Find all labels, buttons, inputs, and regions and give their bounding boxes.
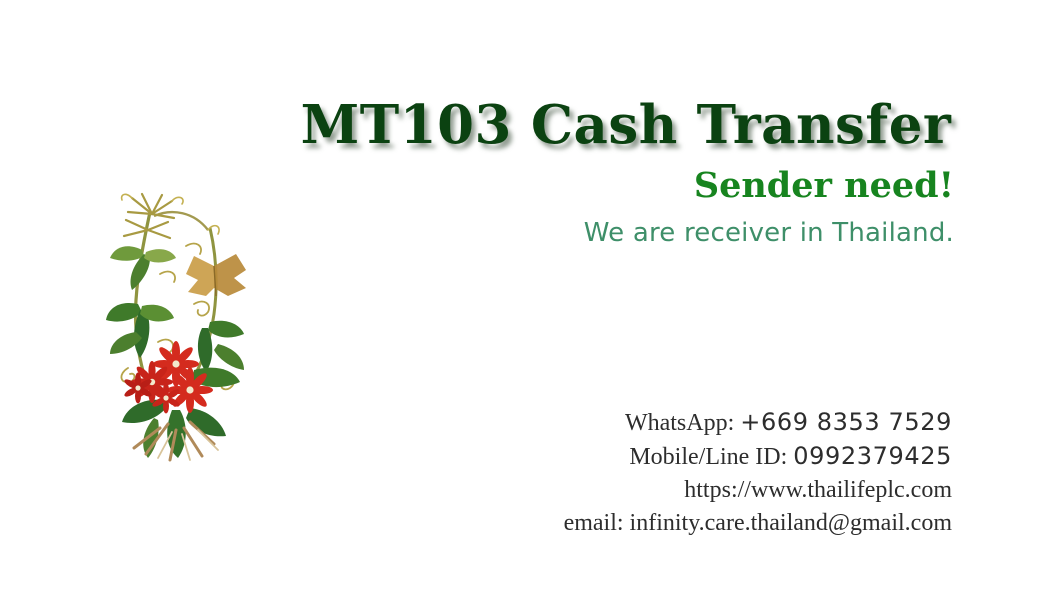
contact-line-whatsapp: WhatsApp: +669 8353 7529 (452, 406, 952, 440)
contact-label-email: email: (564, 510, 624, 536)
contact-block: WhatsApp: +669 8353 7529 Mobile/Line ID:… (452, 406, 952, 540)
contact-line-mobile: Mobile/Line ID: 0992379425 (452, 440, 952, 474)
contact-value-mobile[interactable]: 0992379425 (793, 442, 952, 470)
floral-illustration (98, 192, 258, 464)
contact-line-website: https://www.thailifeplc.com (452, 474, 952, 507)
page-tagline: We are receiver in Thailand. (290, 219, 962, 248)
page-title: MT103 Cash Transfer (290, 98, 962, 152)
leaf-cluster-mid-right (198, 321, 244, 372)
contact-label-mobile: Mobile/Line ID: (629, 444, 787, 470)
contact-line-email: email: infinity.care.thailand@gmail.com (452, 507, 952, 540)
contact-value-website[interactable]: https://www.thailifeplc.com (684, 477, 952, 503)
headline-block: MT103 Cash Transfer Sender need! We are … (290, 98, 962, 247)
contact-value-email[interactable]: infinity.care.thailand@gmail.com (630, 510, 952, 536)
floral-vine-left (106, 194, 246, 460)
business-card-canvas: MT103 Cash Transfer Sender need! We are … (0, 0, 1063, 600)
contact-label-whatsapp: WhatsApp: (625, 410, 734, 436)
page-subtitle: Sender need! (290, 168, 962, 205)
contact-value-whatsapp[interactable]: +669 8353 7529 (740, 408, 952, 436)
